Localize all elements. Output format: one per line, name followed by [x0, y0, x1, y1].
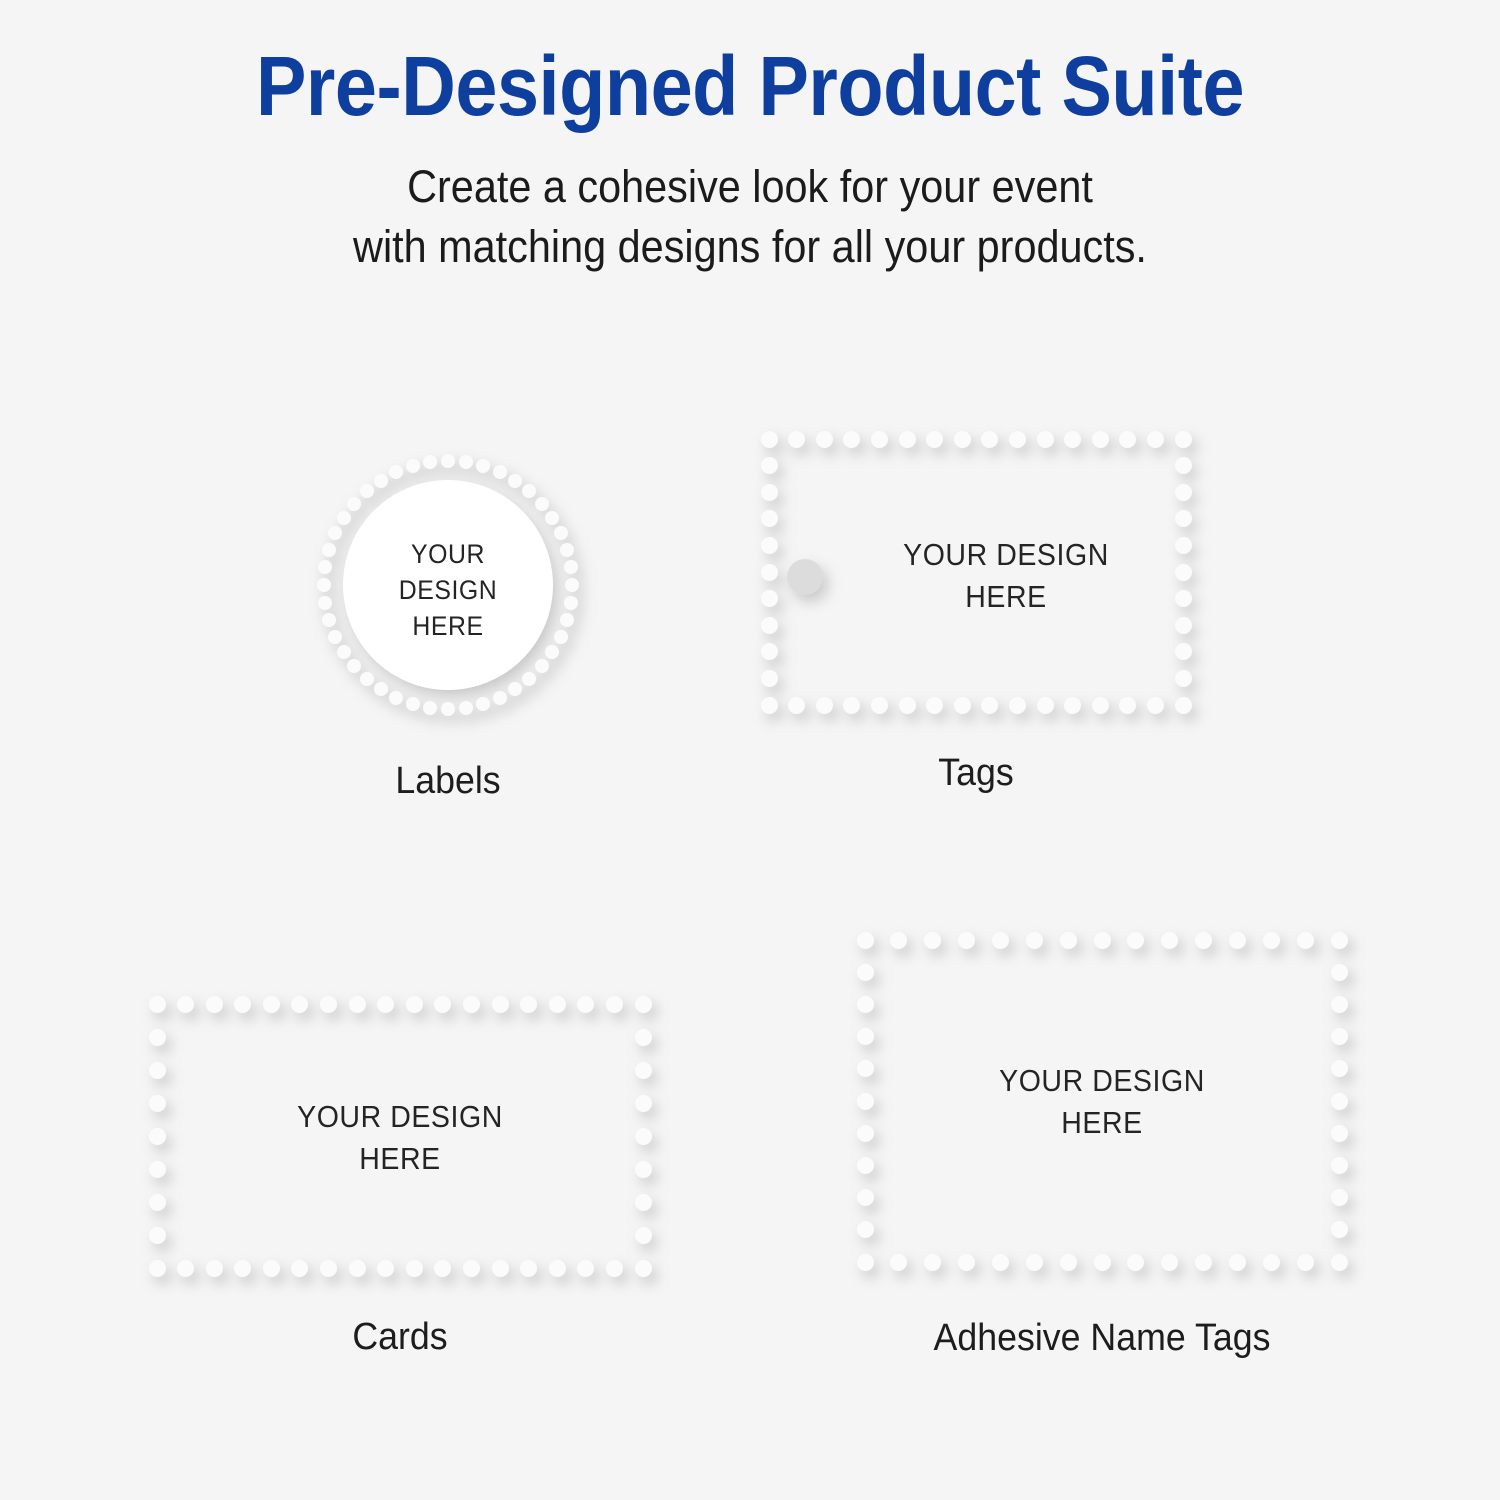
labels-caption: Labels: [314, 760, 583, 803]
cards-dot: [377, 996, 394, 1013]
cards-dot: [149, 1260, 166, 1277]
nametags-dot: [1060, 932, 1077, 949]
tags-dot: [816, 431, 833, 448]
tags-dot: [1175, 670, 1192, 687]
labels-dot: [337, 511, 351, 525]
labels-dot: [374, 474, 388, 488]
labels-dot: [406, 459, 420, 473]
cards-dot: [635, 1029, 652, 1046]
labels-dot: [389, 465, 403, 479]
cards-dot: [606, 996, 623, 1013]
tags-dot: [1147, 697, 1164, 714]
cards-dot: [149, 1062, 166, 1079]
tags-dot: [761, 643, 778, 660]
nametags-dot: [924, 1254, 941, 1271]
labels-dot: [493, 465, 507, 479]
tags-dot: [1175, 457, 1192, 474]
cards-dot: [577, 1260, 594, 1277]
nametags-dot: [1331, 1157, 1348, 1174]
cards-dot: [463, 996, 480, 1013]
labels-dot: [441, 702, 455, 716]
tags-dot: [1175, 617, 1192, 634]
cards-design-placeholder: YOUR DESIGN HERE: [162, 1096, 639, 1179]
cards-dot: [434, 996, 451, 1013]
cards-dot: [549, 1260, 566, 1277]
labels-dot: [347, 497, 361, 511]
labels-dot: [459, 455, 473, 469]
nametags-dot: [992, 1254, 1009, 1271]
tags-dot: [1147, 431, 1164, 448]
nametags-design-placeholder: YOUR DESIGN HERE: [861, 1060, 1343, 1143]
nametags-dot: [1060, 1254, 1077, 1271]
tags-dot: [1037, 431, 1054, 448]
labels-design-line-2: DESIGN: [316, 572, 579, 608]
cards-dot: [463, 1260, 480, 1277]
nametags-dot: [1331, 1189, 1348, 1206]
labels-dot: [374, 682, 388, 696]
cards-dot: [320, 1260, 337, 1277]
cards-design-line-1: YOUR DESIGN: [162, 1096, 639, 1138]
tags-dot: [926, 431, 943, 448]
nametags-dot: [857, 996, 874, 1013]
cards-dot: [520, 996, 537, 1013]
cards-dot: [234, 1260, 251, 1277]
nametags-dot: [1094, 1254, 1111, 1271]
product-suite-page: Pre-Designed Product Suite Create a cohe…: [0, 0, 1500, 1500]
tags-design-line-1: YOUR DESIGN: [828, 534, 1185, 576]
cards-dot: [177, 1260, 194, 1277]
labels-dot: [476, 697, 490, 711]
labels-dot: [360, 484, 374, 498]
tags-dot: [1092, 697, 1109, 714]
tags-dot: [871, 431, 888, 448]
tags-dot: [1175, 643, 1192, 660]
nametags-dot: [1297, 1254, 1314, 1271]
tags-dot: [1037, 697, 1054, 714]
cards-dot: [149, 1194, 166, 1211]
cards-dot: [234, 996, 251, 1013]
page-title: Pre-Designed Product Suite: [75, 0, 1425, 131]
tags-dot: [1092, 431, 1109, 448]
tags-dot: [761, 564, 778, 581]
tags-dot: [788, 697, 805, 714]
cards-dot: [149, 1029, 166, 1046]
nametags-dot: [1127, 932, 1144, 949]
tags-dot: [1009, 431, 1026, 448]
cards-dot: [206, 1260, 223, 1277]
labels-design-placeholder: YOUR DESIGN HERE: [316, 536, 579, 645]
tags-dot: [954, 431, 971, 448]
cards-dot: [434, 1260, 451, 1277]
labels-design-line-1: YOUR: [316, 536, 579, 572]
nametags-dot: [1161, 932, 1178, 949]
cards-dot: [635, 1194, 652, 1211]
cards-dot: [492, 1260, 509, 1277]
cards-dot: [349, 1260, 366, 1277]
tags-dot: [761, 537, 778, 554]
cards-dot: [635, 1260, 652, 1277]
labels-dot: [508, 682, 522, 696]
tags-punch-hole-icon: [787, 559, 823, 595]
tags-dot: [761, 510, 778, 527]
nametags-dot: [857, 1028, 874, 1045]
nametags-dot: [857, 1221, 874, 1238]
labels-dot: [545, 645, 559, 659]
tags-dot: [761, 431, 778, 448]
nametags-dot: [958, 932, 975, 949]
cards-dot: [206, 996, 223, 1013]
cards-dot: [149, 1227, 166, 1244]
tags-dot: [981, 697, 998, 714]
tags-dot: [1064, 431, 1081, 448]
tags-dot: [788, 431, 805, 448]
nametags-dot: [857, 1157, 874, 1174]
tags-dot: [1175, 484, 1192, 501]
nametags-dot: [857, 932, 874, 949]
cards-dot: [291, 1260, 308, 1277]
tags-dot: [981, 431, 998, 448]
cards-dot: [406, 996, 423, 1013]
labels-dot: [476, 459, 490, 473]
cards-dot: [349, 996, 366, 1013]
tags-dot: [1119, 697, 1136, 714]
cards-dot: [577, 996, 594, 1013]
nametags-design-line-1: YOUR DESIGN: [861, 1060, 1343, 1102]
labels-dot: [522, 484, 536, 498]
labels-dot: [508, 474, 522, 488]
nametags-dot: [924, 932, 941, 949]
nametags-dot: [992, 932, 1009, 949]
cards-dot: [149, 996, 166, 1013]
nametags-dot: [1161, 1254, 1178, 1271]
nametags-dot: [1263, 1254, 1280, 1271]
labels-dot: [423, 701, 437, 715]
cards-dot: [606, 1260, 623, 1277]
cards-design-line-2: HERE: [162, 1138, 639, 1180]
cards-dot: [635, 1227, 652, 1244]
tags-dot: [954, 697, 971, 714]
nametags-dot: [1331, 1028, 1348, 1045]
tags-dot: [816, 697, 833, 714]
product-labels[interactable]: YOUR DESIGN HERE Labels: [305, 442, 591, 728]
nametags-dot: [1026, 1254, 1043, 1271]
nametags-dot: [1331, 932, 1348, 949]
cards-dot: [406, 1260, 423, 1277]
header: Pre-Designed Product Suite Create a cohe…: [0, 0, 1500, 277]
product-cards[interactable]: YOUR DESIGN HERE Cards: [141, 988, 659, 1284]
tags-dot: [843, 431, 860, 448]
tags-dot: [1175, 697, 1192, 714]
nametags-dot: [1195, 932, 1212, 949]
tags-dot: [761, 617, 778, 634]
cards-dot: [635, 996, 652, 1013]
page-subtitle: Create a cohesive look for your event wi…: [60, 131, 1440, 277]
cards-dot: [320, 996, 337, 1013]
cards-dot: [263, 1260, 280, 1277]
nametags-dot: [857, 1189, 874, 1206]
labels-dot: [459, 701, 473, 715]
cards-dot: [549, 996, 566, 1013]
tags-design-placeholder: YOUR DESIGN HERE: [828, 534, 1185, 617]
labels-dot: [406, 697, 420, 711]
labels-dot: [493, 691, 507, 705]
nametags-caption: Adhesive Name Tags: [856, 1317, 1349, 1360]
cards-dot: [492, 996, 509, 1013]
tags-dot: [1175, 510, 1192, 527]
nametags-dot: [1094, 932, 1111, 949]
nametags-dot: [1229, 932, 1246, 949]
labels-design-line-3: HERE: [316, 608, 579, 644]
cards-dot: [520, 1260, 537, 1277]
nametags-dot: [1331, 964, 1348, 981]
nametags-dot: [890, 1254, 907, 1271]
labels-dot: [423, 455, 437, 469]
cards-dot: [635, 1062, 652, 1079]
subtitle-line-1: Create a cohesive look for your event: [60, 157, 1440, 217]
labels-dot: [441, 454, 455, 468]
nametags-dot: [1297, 932, 1314, 949]
labels-dot: [360, 672, 374, 686]
tags-design-line-2: HERE: [828, 576, 1185, 618]
nametags-dot: [857, 964, 874, 981]
tags-dot: [899, 431, 916, 448]
labels-dot: [337, 645, 351, 659]
labels-dot: [522, 672, 536, 686]
nametags-design-line-2: HERE: [861, 1102, 1343, 1144]
labels-dot: [545, 511, 559, 525]
product-tags[interactable]: YOUR DESIGN HERE Tags: [752, 422, 1200, 722]
tags-dot: [761, 457, 778, 474]
tags-dot: [843, 697, 860, 714]
tags-dot: [761, 670, 778, 687]
labels-dot: [389, 691, 403, 705]
tags-dot: [761, 484, 778, 501]
tags-dot: [1175, 431, 1192, 448]
labels-dot: [535, 659, 549, 673]
labels-dot: [347, 659, 361, 673]
tags-dot: [1064, 697, 1081, 714]
tags-dot: [761, 697, 778, 714]
nametags-dot: [1331, 1254, 1348, 1271]
tags-dot: [761, 590, 778, 607]
nametags-dot: [1331, 996, 1348, 1013]
cards-dot: [291, 996, 308, 1013]
nametags-dot: [1195, 1254, 1212, 1271]
nametags-dot: [1127, 1254, 1144, 1271]
nametags-dot: [1229, 1254, 1246, 1271]
nametags-dot: [958, 1254, 975, 1271]
cards-caption: Cards: [157, 1316, 644, 1359]
tags-dot: [1119, 431, 1136, 448]
cards-dot: [263, 996, 280, 1013]
tags-dot: [926, 697, 943, 714]
cards-dot: [177, 996, 194, 1013]
tags-dot: [1009, 697, 1026, 714]
cards-dot: [377, 1260, 394, 1277]
tags-caption: Tags: [765, 752, 1186, 795]
labels-dot: [535, 497, 549, 511]
nametags-dot: [890, 932, 907, 949]
product-adhesive-name-tags[interactable]: YOUR DESIGN HERE Adhesive Name Tags: [840, 915, 1364, 1287]
nametags-dot: [1026, 932, 1043, 949]
tags-dot: [871, 697, 888, 714]
nametags-dot: [857, 1254, 874, 1271]
nametags-dot: [1263, 932, 1280, 949]
nametags-dot: [1331, 1221, 1348, 1238]
tags-dot: [899, 697, 916, 714]
subtitle-line-2: with matching designs for all your produ…: [60, 217, 1440, 277]
